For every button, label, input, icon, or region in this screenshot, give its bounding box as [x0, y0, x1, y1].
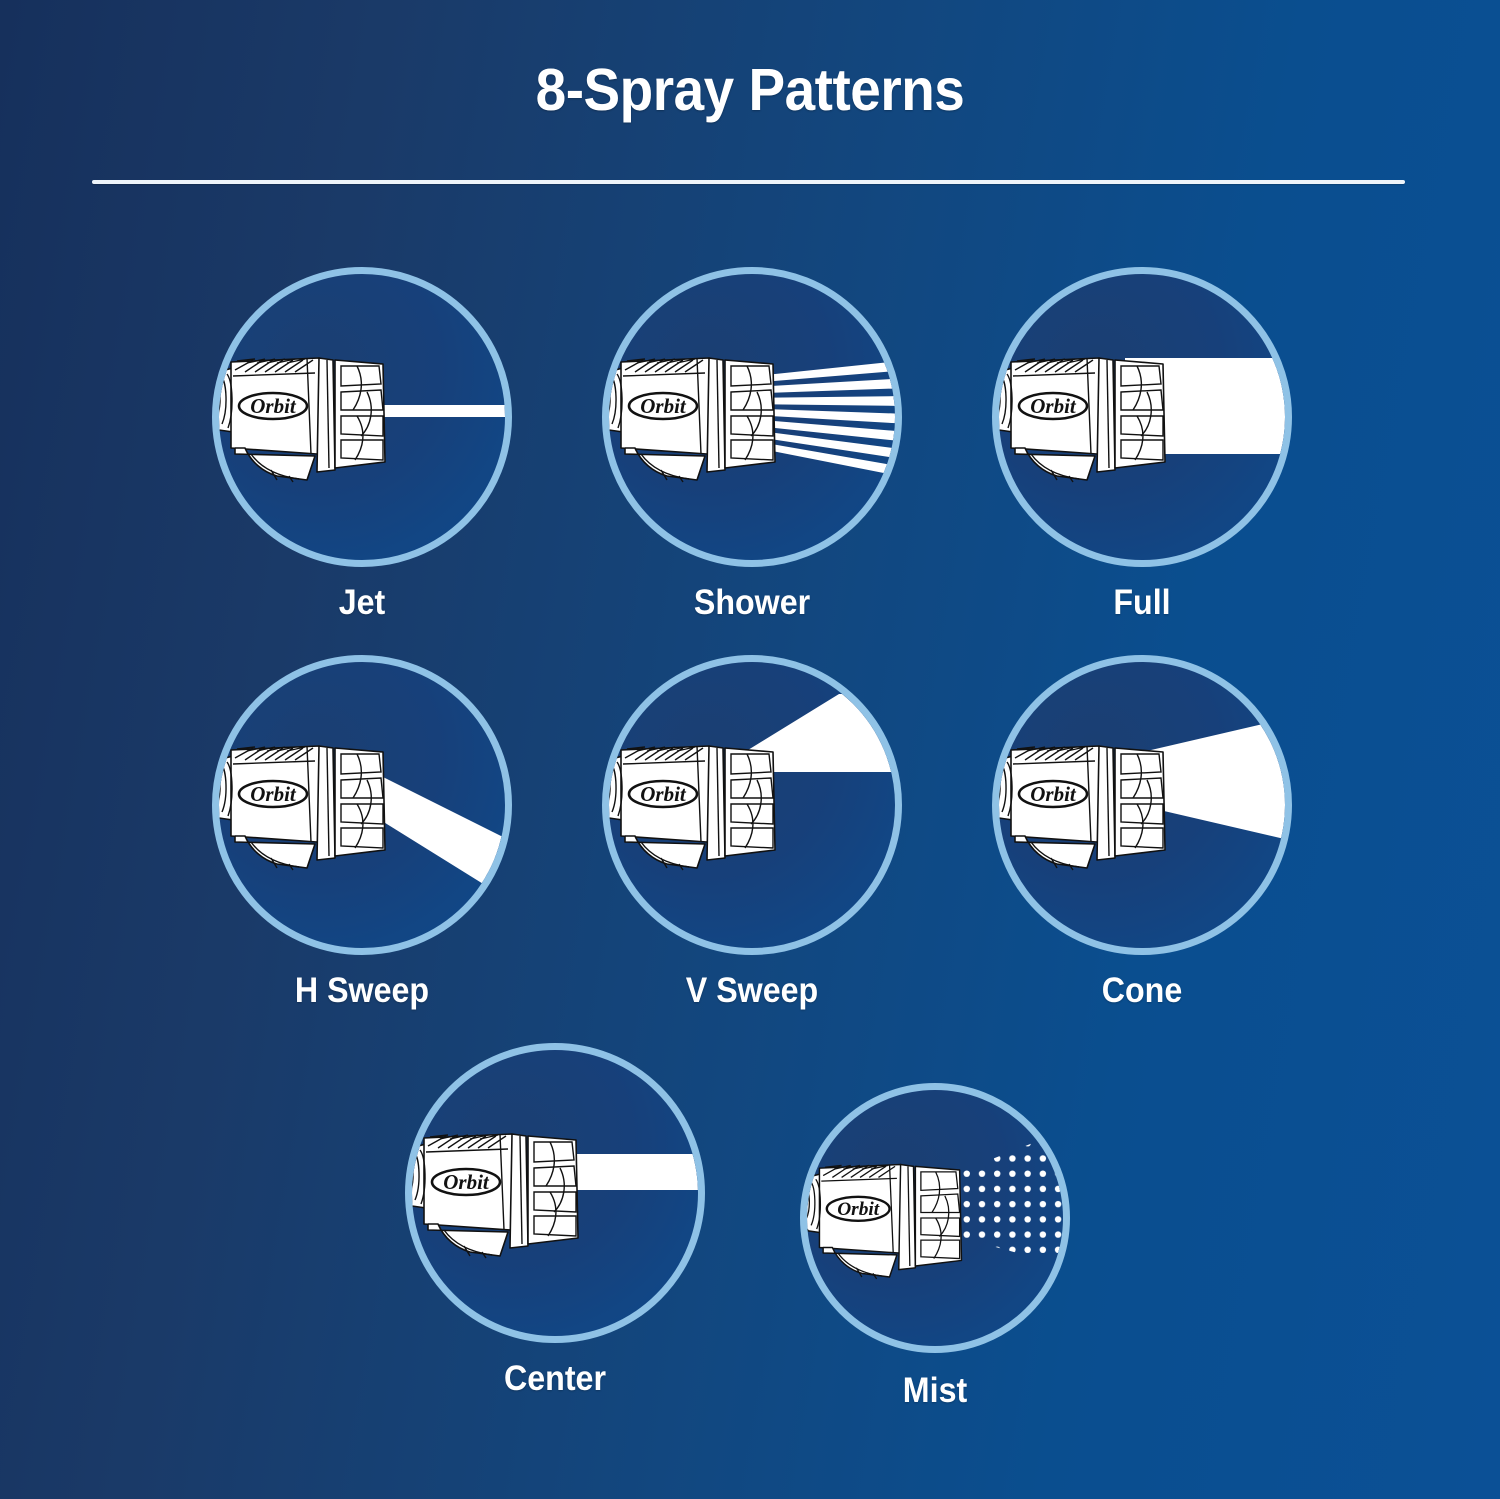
pattern-circle-center: Orbit [405, 1043, 705, 1343]
orbit-logo-text: Orbit [250, 782, 297, 806]
orbit-logo-text: Orbit [640, 782, 687, 806]
pattern-circle-shower: Orbit [602, 267, 902, 567]
pattern-label-mist: Mist [742, 1371, 1128, 1411]
pattern-circle-h-sweep: Orbit [212, 655, 512, 955]
pattern-circle-mist: Orbit [800, 1083, 1070, 1353]
pattern-label-h-sweep: H Sweep [169, 971, 555, 1011]
pattern-label-full: Full [949, 583, 1335, 623]
nozzle-illustration: Orbit [219, 336, 391, 496]
nozzle-illustration: Orbit [219, 724, 391, 884]
pattern-circle-full: Orbit [992, 267, 1292, 567]
orbit-logo-text: Orbit [837, 1199, 880, 1220]
pattern-label-shower: Shower [559, 583, 945, 623]
nozzle-illustration: Orbit [412, 1112, 584, 1272]
pattern-grid: Orbit Jet [0, 0, 1500, 1499]
nozzle-illustration: Orbit [999, 336, 1171, 496]
orbit-logo-text: Orbit [1030, 782, 1077, 806]
pattern-label-jet: Jet [169, 583, 555, 623]
nozzle-illustration: Orbit [999, 724, 1171, 884]
orbit-logo-text: Orbit [443, 1170, 490, 1194]
pattern-label-center: Center [362, 1359, 748, 1399]
pattern-circle-v-sweep: Orbit [602, 655, 902, 955]
orbit-logo-text: Orbit [1030, 394, 1077, 418]
pattern-circle-jet: Orbit [212, 267, 512, 567]
spray-patterns-infographic: 8-Spray Patterns [0, 0, 1500, 1499]
orbit-logo-text: Orbit [250, 394, 297, 418]
pattern-label-cone: Cone [949, 971, 1335, 1011]
nozzle-illustration: Orbit [609, 724, 781, 884]
nozzle-illustration: Orbit [609, 336, 781, 496]
pattern-circle-cone: Orbit [992, 655, 1292, 955]
orbit-logo-text: Orbit [640, 394, 687, 418]
pattern-label-v-sweep: V Sweep [559, 971, 945, 1011]
nozzle-illustration: Orbit [807, 1144, 967, 1292]
